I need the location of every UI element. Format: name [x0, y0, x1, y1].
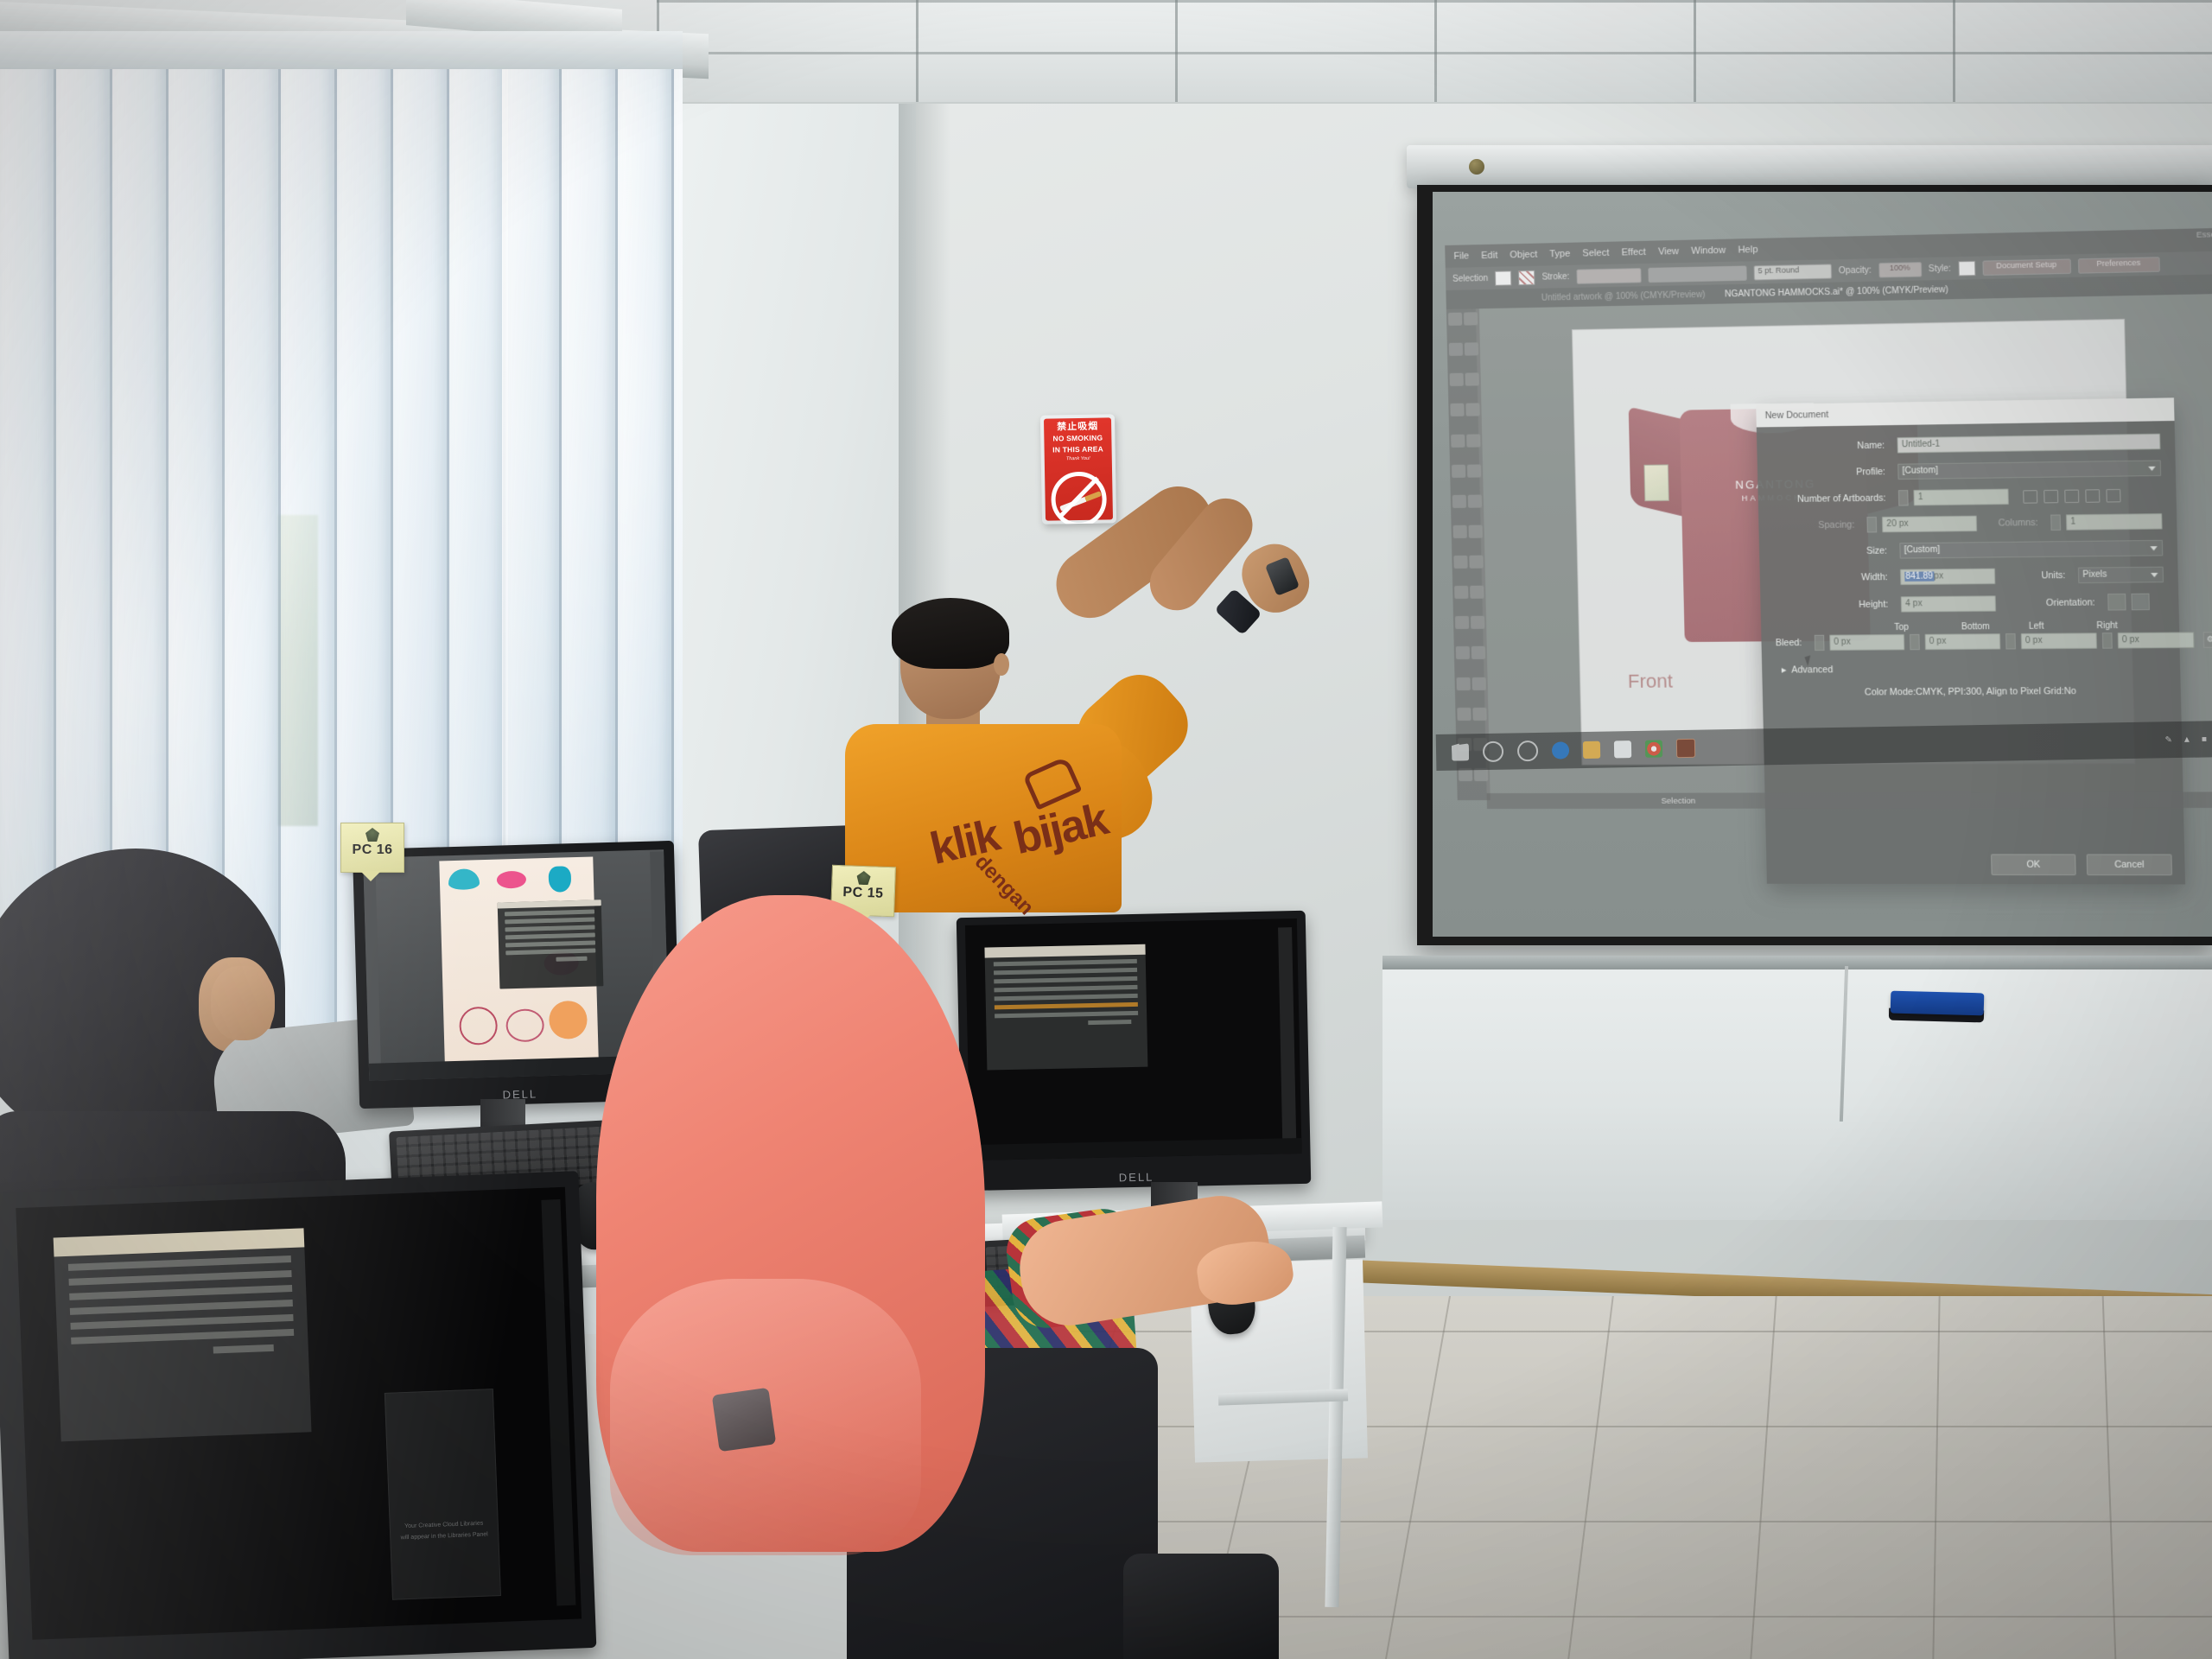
columns-label: Columns: [1982, 518, 2045, 529]
columns-input[interactable]: 1 [2066, 513, 2163, 531]
no-smoking-sign: 禁止吸烟 NO SMOKING IN THIS AREA Thank You! [1040, 414, 1116, 524]
artboards-label: Number of Artboards: [1772, 493, 1893, 505]
dialog-field-mini[interactable] [69, 1270, 292, 1286]
creative-cloud-panel[interactable]: Your Creative Cloud Libraries will appea… [385, 1389, 501, 1600]
bleed-header-top: Top [1894, 622, 1961, 632]
columns-stepper[interactable] [2050, 514, 2061, 531]
pc-tag-16: PC 16 [340, 823, 404, 873]
bleed-left-stepper[interactable] [2005, 633, 2016, 649]
menu-type[interactable]: Type [1549, 249, 1570, 260]
dialog-title-mini [984, 944, 1145, 958]
control-bar-selection-label: Selection [1452, 273, 1488, 283]
network-icon[interactable]: ■ [2202, 734, 2207, 744]
mesh-tool[interactable] [1454, 586, 1468, 599]
chevron-up-icon[interactable]: ▲ [2183, 734, 2191, 744]
new-document-dialog[interactable]: New Document Name: Untitled-1 Profile: [… [1756, 397, 2185, 884]
dialog-row-profile[interactable]: Profile: [Custom] [1771, 460, 2161, 481]
spacing-input[interactable]: 20 px [1882, 516, 1977, 533]
height-input[interactable]: 4 px [1901, 595, 1996, 612]
projected-illustrator-ui: File Edit Object Type Select Effect View… [1445, 220, 2212, 809]
ceiling-tile-grid [657, 0, 2212, 102]
height-label: Height: [1775, 599, 1896, 610]
floor-tile-seam [1071, 1521, 2212, 1522]
new-document-dialog-mini[interactable] [984, 944, 1147, 1071]
menu-effect[interactable]: Effect [1621, 247, 1646, 258]
document-summary-text: Color Mode:CMYK, PPI:300, Align to Pixel… [1777, 685, 2166, 698]
stroke-swatch[interactable] [1518, 270, 1535, 284]
profile-select[interactable]: [Custom] [1897, 460, 2161, 480]
dialog-buttons[interactable]: OK Cancel [1991, 854, 2172, 875]
ok-button[interactable]: OK [1991, 854, 2076, 875]
pen-icon[interactable]: ✎ [2165, 735, 2173, 745]
monitor-screen[interactable] [965, 918, 1302, 1160]
shape-builder-tool[interactable] [1453, 556, 1467, 569]
dialog-field-mini[interactable] [71, 1329, 294, 1344]
link-icon[interactable]: ⚙ [2202, 632, 2212, 648]
cortana-icon[interactable] [1517, 741, 1538, 761]
whiteboard-ledge [1382, 956, 2212, 969]
dialog-field-mini[interactable] [505, 909, 594, 916]
dialog-field-mini[interactable] [505, 940, 595, 947]
floor-tile-seam [2102, 1296, 2117, 1659]
illustrator-canvas[interactable]: NGANTONG HAMMOCKS Front New Document Nam… [1476, 294, 2212, 793]
start-icon[interactable] [1452, 743, 1469, 760]
dialog-ok-mini[interactable] [1088, 1020, 1131, 1025]
dialog-field-mini[interactable] [70, 1300, 293, 1315]
artboard-layout-grid-cols-icon[interactable] [2044, 489, 2058, 503]
nailpolish-icon [505, 1008, 544, 1042]
dialog-field-mini[interactable] [70, 1314, 293, 1330]
opacity-value[interactable]: 100% [1878, 262, 1922, 277]
no-smoking-line1: NO SMOKING [1044, 434, 1111, 443]
floor-tile-seam [1932, 1296, 1940, 1659]
fill-swatch[interactable] [1495, 270, 1511, 285]
dialog-row-height-orientation[interactable]: Height: 4 px Orientation: [1775, 593, 2164, 613]
institution-crest-icon [856, 871, 871, 886]
style-label: Style: [1929, 264, 1951, 274]
eye-icon [448, 868, 480, 890]
spacing-label: Spacing: [1773, 519, 1862, 531]
projector-screen-housing [1407, 145, 2212, 188]
dialog-field-mini[interactable] [994, 959, 1137, 966]
dialog-ok-mini[interactable] [213, 1344, 274, 1354]
creative-cloud-line2: will appear in the Libraries Panel [391, 1530, 498, 1543]
pc-tag-15-label: PC 15 [832, 885, 895, 903]
advanced-disclosure[interactable]: Advanced [1782, 663, 2166, 676]
orientation-landscape-icon[interactable] [2131, 594, 2149, 611]
width-tool[interactable] [1453, 525, 1467, 538]
bleed-bottom-input[interactable]: 0 px [1924, 633, 2000, 650]
dialog-field-mini[interactable] [994, 976, 1137, 983]
screen-mount-knob [1469, 159, 1484, 175]
dialog-field-mini[interactable] [994, 968, 1137, 975]
size-select[interactable]: [Custom] [1899, 540, 2163, 559]
search-icon[interactable] [1483, 741, 1503, 762]
stroke-profile-field[interactable]: 5 pt. Round [1753, 264, 1832, 280]
symbol-sprayer-tool[interactable] [1456, 646, 1470, 659]
orientation-label: Orientation: [2001, 597, 2102, 608]
student-front-hijab-clip [712, 1388, 777, 1452]
classroom-photo-scene: 禁止吸烟 NO SMOKING IN THIS AREA Thank You! … [0, 0, 2212, 1659]
monitor-screen[interactable]: Your Creative Cloud Libraries will appea… [16, 1187, 582, 1640]
dialog-row-spacing-columns[interactable]: Spacing: 20 px Columns: 1 [1773, 513, 2163, 534]
magic-wand-tool[interactable] [1449, 343, 1463, 356]
menu-edit[interactable]: Edit [1481, 251, 1497, 261]
dialog-row-size[interactable]: Size: [Custom] [1773, 540, 2163, 560]
paintbrush-tool[interactable] [1451, 434, 1465, 447]
student-front-chair [1123, 1554, 1279, 1659]
artboard-layout-column-icon[interactable] [2085, 489, 2100, 503]
blind-slat [281, 31, 337, 1051]
hand-tool[interactable] [1457, 708, 1471, 721]
whiteboard-eraser [1891, 991, 1985, 1016]
illustrator-panels-mini[interactable] [1278, 927, 1296, 1143]
dialog-field-mini[interactable] [68, 1255, 291, 1271]
pc-tag-16-label: PC 16 [341, 842, 404, 858]
artboard-layout-grid-rows-icon[interactable] [2023, 490, 2037, 504]
artboard-layout-row-icon[interactable] [2064, 489, 2079, 503]
bleed-header-left: Left [2029, 621, 2097, 632]
artboard-layout-by-row-icon[interactable] [2106, 488, 2120, 502]
compact-icon [459, 1007, 498, 1046]
blind-headrail [0, 31, 683, 69]
rotate-tool[interactable] [1452, 495, 1466, 508]
document-tab-ngantong-hammocks[interactable]: NGANTONG HAMMOCKS.ai* @ 100% (CMYK/Previ… [1725, 285, 1948, 299]
menu-file[interactable]: File [1453, 251, 1469, 261]
dialog-field-mini[interactable] [505, 948, 595, 955]
shirt-text-bijak: bijak [1009, 793, 1112, 865]
cancel-button[interactable]: Cancel [2087, 854, 2172, 875]
opacity-label: Opacity: [1839, 265, 1872, 276]
dialog-field-mini[interactable] [995, 994, 1138, 1001]
name-input[interactable]: Untitled-1 [1897, 434, 2160, 454]
floor-tile-seam [1750, 1296, 1777, 1659]
dialog-field-mini[interactable] [995, 1011, 1138, 1018]
chrome-icon[interactable] [1645, 740, 1662, 757]
bleed-bottom-stepper[interactable] [1910, 634, 1920, 650]
width-label: Width: [1774, 572, 1895, 584]
dialog-field-mini[interactable] [505, 917, 594, 924]
no-smoking-line2: IN THIS AREA [1045, 445, 1112, 454]
menu-window[interactable]: Window [1691, 245, 1726, 257]
dialog-field-mini[interactable] [505, 925, 594, 931]
no-smoking-thanks: Thank You! [1045, 455, 1112, 461]
graphic-style-swatch[interactable] [1958, 260, 1975, 276]
illustrator-status-bar: Selection [1487, 791, 2212, 809]
dialog-field-mini[interactable] [994, 985, 1137, 992]
illustrator-icon[interactable] [1676, 739, 1695, 758]
artboards-input[interactable]: 1 [1913, 489, 2008, 506]
edge-icon[interactable] [1552, 741, 1569, 759]
student-back-hand [211, 966, 275, 1040]
dialog-row-artboards[interactable]: Number of Artboards: 1 [1772, 486, 2162, 507]
artboards-stepper[interactable] [1898, 490, 1909, 505]
instructor-hair [892, 598, 1009, 669]
menu-help[interactable]: Help [1738, 245, 1758, 256]
bleed-label: Bleed: [1776, 638, 1809, 648]
perfume-icon [549, 866, 572, 893]
document-tab-untitled[interactable]: Untitled artwork @ 100% (CMYK/Preview) [1541, 289, 1706, 302]
selection-tool[interactable] [1448, 313, 1462, 326]
tshirt-sleeve-tag [1643, 464, 1669, 501]
blob-brush-tool[interactable] [1452, 464, 1465, 477]
dialog-field-mini[interactable] [505, 932, 595, 939]
beauty-icons-artwork [439, 856, 599, 1065]
monitor-foreground: Your Creative Cloud Libraries will appea… [0, 1171, 596, 1659]
floor-tile-seam [1567, 1296, 1614, 1659]
pen-tool[interactable] [1450, 373, 1464, 386]
system-tray[interactable]: ✎ ▲ ■ [2165, 734, 2208, 745]
bleed-top-input[interactable]: 0 px [1829, 634, 1904, 651]
dialog-row-width-units[interactable]: Width: 841.89px Units: Pixels [1774, 567, 2164, 587]
no-smoking-icon [1051, 471, 1107, 524]
stroke-label: Stroke: [1541, 271, 1569, 282]
menu-view[interactable]: View [1658, 246, 1679, 257]
new-document-dialog-mini[interactable] [498, 899, 604, 988]
dialog-units-mini[interactable] [995, 1002, 1138, 1009]
orientation-portrait-icon[interactable] [2107, 594, 2126, 611]
artboard-layout-icons[interactable] [2023, 488, 2120, 503]
width-value: 841.89 [1904, 571, 1934, 582]
size-label: Size: [1773, 545, 1894, 557]
width-unit: px [1934, 571, 1943, 581]
preferences-button[interactable]: Preferences [2077, 257, 2159, 273]
whiteboard [1382, 961, 2212, 1220]
monitor-pc15: DELL [957, 911, 1312, 1191]
artboard-view-label: Front [1628, 670, 1674, 693]
spacing-stepper[interactable] [1867, 517, 1878, 532]
units-label: Units: [2000, 570, 2073, 582]
no-smoking-chinese: 禁止吸烟 [1044, 422, 1111, 432]
dialog-title-mini [498, 899, 601, 908]
menu-select[interactable]: Select [1582, 248, 1609, 259]
dialog-title-mini [54, 1228, 305, 1256]
mail-icon[interactable] [1614, 741, 1631, 758]
width-input[interactable]: 841.89px [1900, 569, 1995, 585]
dialog-row-bleed[interactable]: Bleed: 0 px 0 px 0 px 0 px ⚙ [1776, 632, 2165, 652]
name-label: Name: [1771, 440, 1892, 452]
bleed-header-right: Right [2096, 620, 2164, 631]
new-document-dialog-mini[interactable] [54, 1228, 312, 1441]
workspace-switcher[interactable]: Essentials [2196, 230, 2212, 240]
dialog-row-name[interactable]: Name: Untitled-1 [1770, 434, 2160, 455]
artboard-tool[interactable] [1457, 677, 1471, 690]
face-icon [549, 1001, 588, 1039]
institution-crest-icon [365, 828, 379, 842]
stroke-style-field[interactable] [1648, 265, 1746, 283]
instructor-ear [994, 653, 1009, 676]
bleed-right-input[interactable]: 0 px [2117, 632, 2194, 648]
eyedropper-tool[interactable] [1455, 616, 1469, 629]
bleed-left-input[interactable]: 0 px [2021, 632, 2097, 649]
floor-tile-seam [1385, 1296, 1451, 1659]
status-tool-label: Selection [1661, 796, 1695, 805]
no-smoking-sign-face: 禁止吸烟 NO SMOKING IN THIS AREA Thank You! [1044, 417, 1113, 520]
dialog-ok-mini[interactable] [556, 957, 587, 962]
profile-label: Profile: [1771, 467, 1892, 479]
lips-icon [497, 871, 527, 889]
bleed-top-stepper[interactable] [1815, 635, 1825, 651]
file-explorer-icon[interactable] [1583, 741, 1600, 759]
bleed-right-stepper[interactable] [2102, 632, 2113, 649]
line-tool[interactable] [1450, 404, 1464, 416]
document-setup-button[interactable]: Document Setup [1982, 258, 2071, 276]
stroke-weight-field[interactable] [1576, 268, 1641, 284]
bleed-column-headers: Top Bottom Left Right [1894, 620, 2164, 632]
bleed-header-bottom: Bottom [1961, 622, 2029, 632]
menu-object[interactable]: Object [1510, 250, 1537, 261]
units-select[interactable]: Pixels [2078, 567, 2164, 583]
dialog-field-mini[interactable] [69, 1285, 292, 1300]
